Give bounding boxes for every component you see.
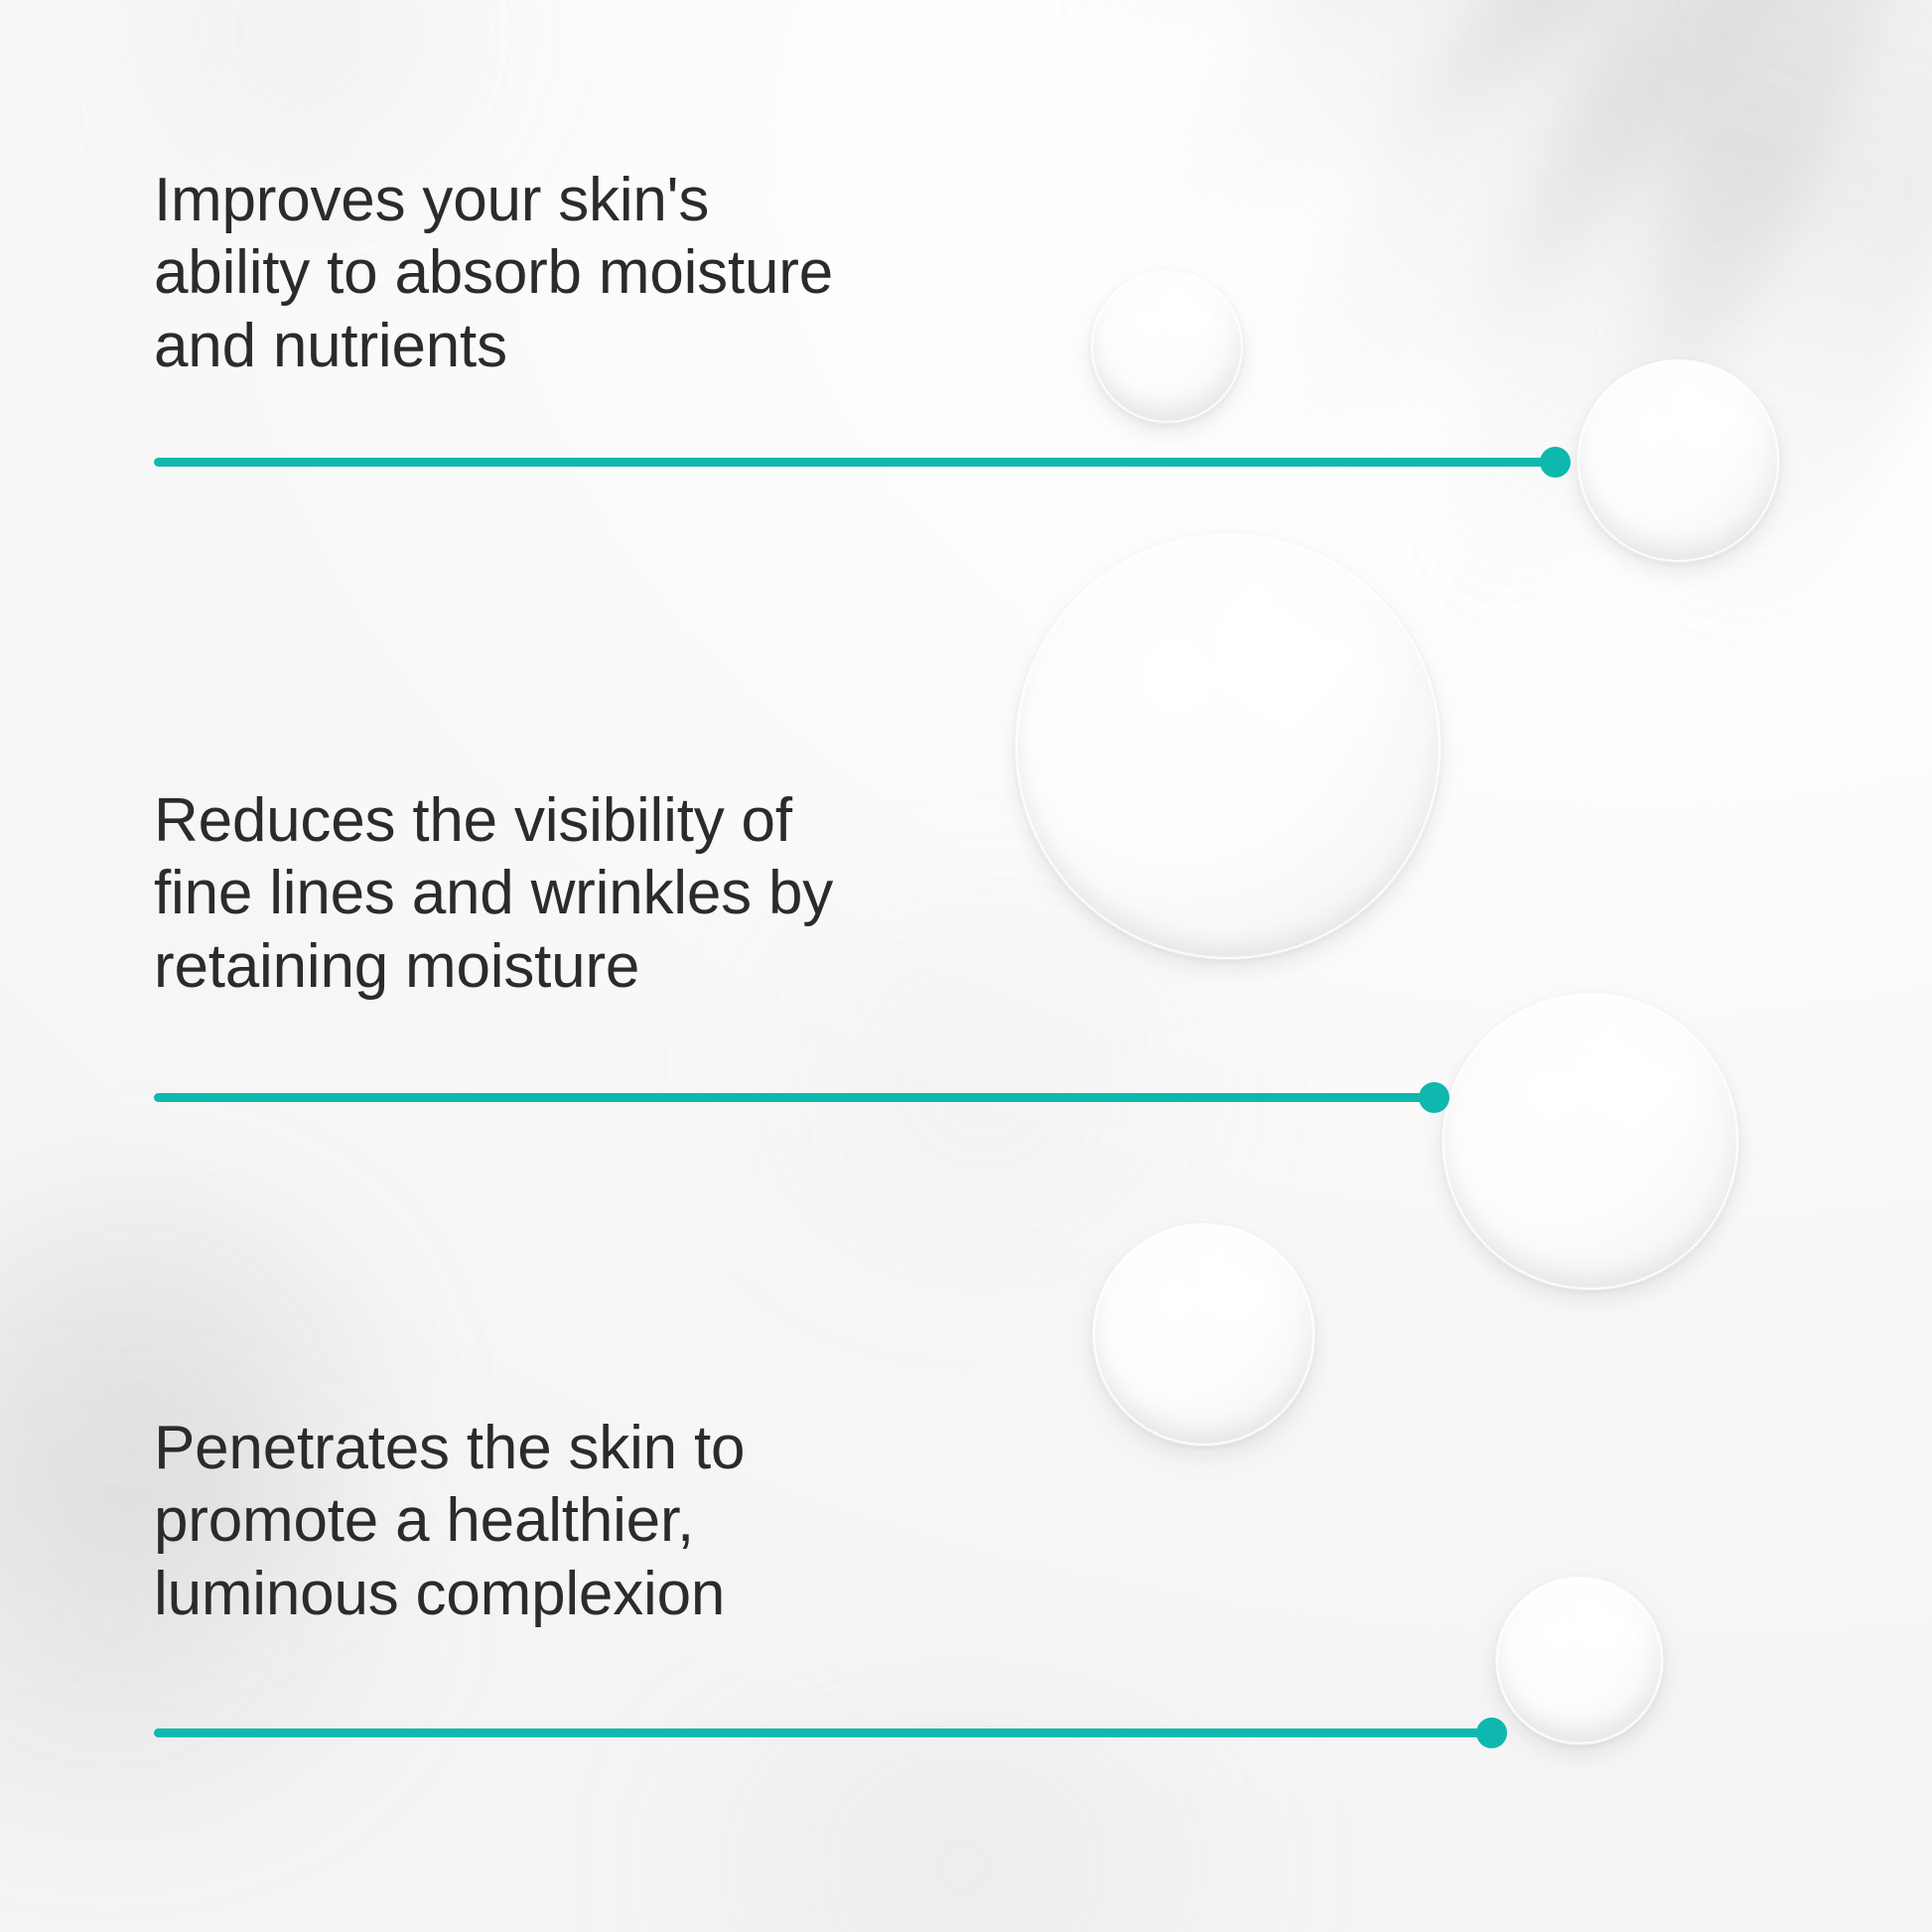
- feature-fine-lines-endpoint-dot: [1419, 1082, 1449, 1113]
- feature-absorption-endpoint-dot: [1540, 447, 1571, 478]
- feature-fine-lines-rule: [154, 1082, 1445, 1112]
- frond-shadow-2: [1353, 0, 1932, 664]
- feature-fine-lines-rule-line: [154, 1093, 1435, 1102]
- feature-complexion: Penetrates the skin to promote a healthi…: [154, 1412, 1147, 1630]
- feature-absorption-rule: [154, 447, 1564, 477]
- feature-fine-lines: Reduces the visibility of fine lines and…: [154, 784, 1147, 1003]
- frond-shadow-5: [1030, 0, 1872, 101]
- feature-fine-lines-text: Reduces the visibility of fine lines and…: [154, 784, 1147, 1003]
- feature-absorption-rule-line: [154, 458, 1556, 467]
- feature-complexion-rule: [154, 1718, 1504, 1747]
- frond-shadow-3: [1192, 0, 1932, 518]
- droplet-bottom: [1495, 1577, 1664, 1745]
- feature-absorption: Improves your skin's ability to absorb m…: [154, 164, 1147, 382]
- feature-complexion-rule-line: [154, 1728, 1492, 1737]
- feature-absorption-text: Improves your skin's ability to absorb m…: [154, 164, 1147, 382]
- droplet-mid-right: [1442, 993, 1739, 1291]
- feature-complexion-endpoint-dot: [1476, 1718, 1507, 1748]
- droplet-top-right: [1577, 359, 1780, 563]
- frond-shadow-1: [1566, 0, 1932, 668]
- feature-complexion-text: Penetrates the skin to promote a healthi…: [154, 1412, 1147, 1630]
- frond-shadow-4: [1090, 0, 1922, 302]
- infographic-canvas: Improves your skin's ability to absorb m…: [0, 0, 1932, 1932]
